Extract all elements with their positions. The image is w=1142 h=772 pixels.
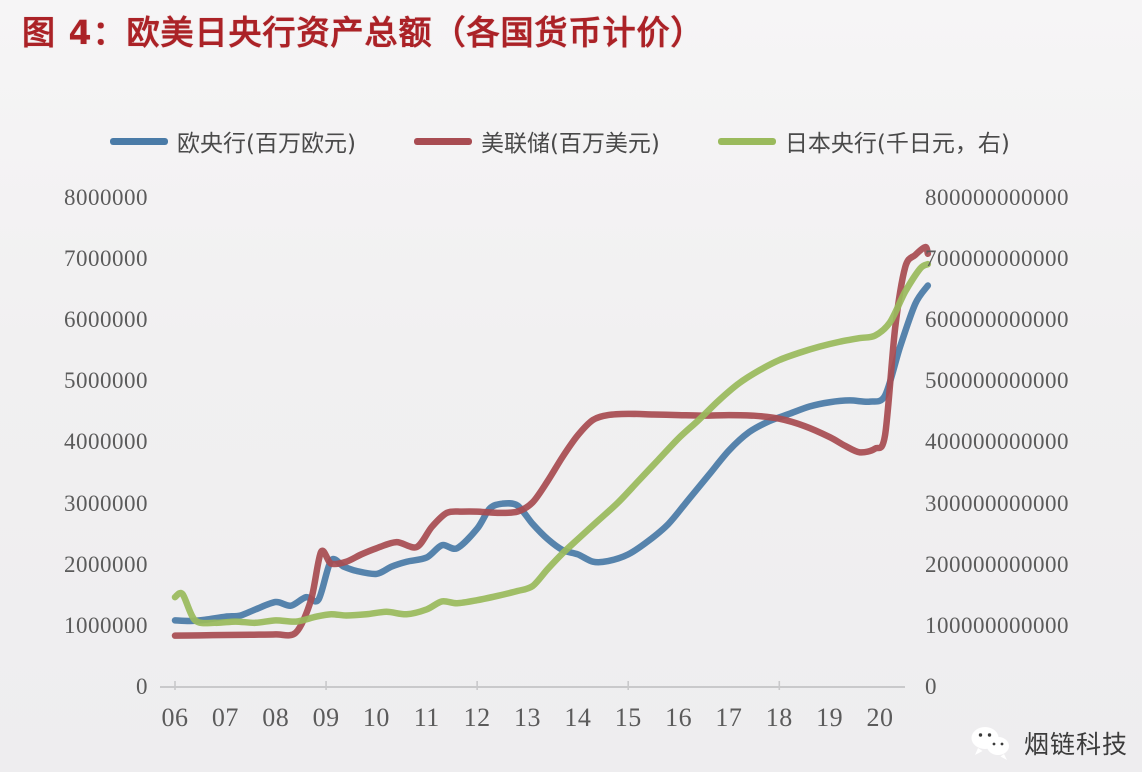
left-tick-6000000: 6000000 [0,307,148,333]
left-tick-2000000: 2000000 [0,552,148,578]
series-line-ecb [175,286,928,621]
x-tick-15: 15 [603,703,653,733]
series-line-boj [175,264,928,623]
x-tick-16: 16 [654,703,704,733]
left-tick-5000000: 5000000 [0,368,148,394]
right-tick-0: 0 [925,674,937,700]
wechat-icon [970,724,1014,762]
x-tick-06: 06 [150,703,200,733]
left-tick-3000000: 3000000 [0,491,148,517]
x-tick-11: 11 [402,703,452,733]
x-tick-14: 14 [553,703,603,733]
x-tick-10: 10 [351,703,401,733]
x-axis-ticks [175,681,779,690]
x-tick-17: 17 [704,703,754,733]
chart-page: 图 4：欧美日央行资产总额（各国货币计价） 欧央行(百万欧元) 美联储(百万美元… [0,0,1142,772]
x-tick-12: 12 [452,703,502,733]
plot-area: 8000000700000060000005000000400000030000… [0,0,1142,772]
right-tick-700000000000: 700000000000 [925,246,1069,272]
series-line-fed [175,247,928,636]
x-tick-20: 20 [855,703,905,733]
right-tick-600000000000: 600000000000 [925,307,1069,333]
left-tick-4000000: 4000000 [0,429,148,455]
right-tick-500000000000: 500000000000 [925,368,1069,394]
left-tick-7000000: 7000000 [0,246,148,272]
left-tick-8000000: 8000000 [0,185,148,211]
right-tick-400000000000: 400000000000 [925,429,1069,455]
x-tick-13: 13 [503,703,553,733]
watermark-text: 烟链科技 [1024,725,1128,761]
x-tick-07: 07 [200,703,250,733]
watermark: 烟链科技 [970,724,1128,762]
right-tick-800000000000: 800000000000 [925,185,1069,211]
left-tick-1000000: 1000000 [0,613,148,639]
x-tick-08: 08 [251,703,301,733]
right-tick-300000000000: 300000000000 [925,491,1069,517]
x-tick-09: 09 [301,703,351,733]
x-tick-18: 18 [754,703,804,733]
right-tick-200000000000: 200000000000 [925,552,1069,578]
right-tick-100000000000: 100000000000 [925,613,1069,639]
left-tick-0: 0 [0,674,148,700]
x-tick-19: 19 [805,703,855,733]
series-lines [175,247,928,636]
